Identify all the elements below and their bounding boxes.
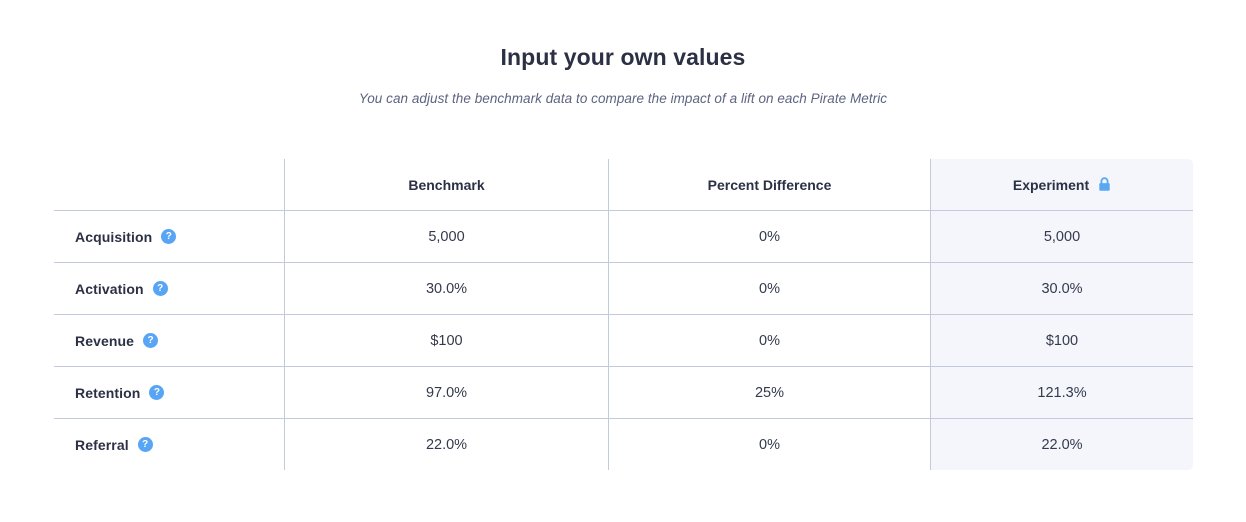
row-label-cell-referral: Referral ? (54, 419, 285, 471)
experiment-cell: 30.0% (931, 263, 1194, 315)
experiment-cell: 5,000 (931, 211, 1194, 263)
table-header-row: Benchmark Percent Difference Experiment (54, 159, 1194, 211)
values-table-container: Benchmark Percent Difference Experiment (53, 158, 1193, 471)
column-header-percent-difference: Percent Difference (609, 159, 931, 211)
help-icon[interactable]: ? (153, 281, 168, 296)
metric-label: Activation (75, 281, 144, 297)
table-row: Retention ? 97.0% 25% 121.3% (54, 367, 1194, 419)
row-label-cell-activation: Activation ? (54, 263, 285, 315)
help-icon[interactable]: ? (143, 333, 158, 348)
percent-difference-cell[interactable]: 25% (609, 367, 931, 419)
experiment-cell: 22.0% (931, 419, 1194, 471)
page-title: Input your own values (0, 44, 1246, 72)
benchmark-cell[interactable]: 97.0% (285, 367, 609, 419)
table-row: Acquisition ? 5,000 0% 5,000 (54, 211, 1194, 263)
table-row: Activation ? 30.0% 0% 30.0% (54, 263, 1194, 315)
column-header-benchmark-label: Benchmark (408, 178, 484, 192)
page-subtitle: You can adjust the benchmark data to com… (0, 72, 1246, 107)
row-label-cell-revenue: Revenue ? (54, 315, 285, 367)
benchmark-cell[interactable]: 22.0% (285, 419, 609, 471)
help-icon[interactable]: ? (149, 385, 164, 400)
benchmark-cell[interactable]: $100 (285, 315, 609, 367)
metric-label: Retention (75, 385, 140, 401)
metric-label: Revenue (75, 333, 134, 349)
percent-difference-cell[interactable]: 0% (609, 315, 931, 367)
column-header-percent-difference-label: Percent Difference (708, 178, 832, 192)
table-row: Referral ? 22.0% 0% 22.0% (54, 419, 1194, 471)
percent-difference-cell[interactable]: 0% (609, 263, 931, 315)
column-header-metric (54, 159, 285, 211)
percent-difference-cell[interactable]: 0% (609, 419, 931, 471)
row-label-cell-acquisition: Acquisition ? (54, 211, 285, 263)
column-header-benchmark: Benchmark (285, 159, 609, 211)
row-label-cell-retention: Retention ? (54, 367, 285, 419)
column-header-experiment: Experiment (931, 159, 1194, 211)
column-header-experiment-label: Experiment (1013, 178, 1089, 192)
experiment-cell: 121.3% (931, 367, 1194, 419)
help-icon[interactable]: ? (138, 437, 153, 452)
metric-label: Acquisition (75, 229, 152, 245)
table-body: Acquisition ? 5,000 0% 5,000 Activation … (54, 211, 1194, 471)
percent-difference-cell[interactable]: 0% (609, 211, 931, 263)
page-root: Input your own values You can adjust the… (0, 0, 1246, 522)
table-head: Benchmark Percent Difference Experiment (54, 159, 1194, 211)
metric-label: Referral (75, 437, 129, 453)
values-table: Benchmark Percent Difference Experiment (53, 158, 1194, 471)
help-icon[interactable]: ? (161, 229, 176, 244)
benchmark-cell[interactable]: 30.0% (285, 263, 609, 315)
benchmark-cell[interactable]: 5,000 (285, 211, 609, 263)
lock-icon (1097, 177, 1111, 192)
experiment-cell: $100 (931, 315, 1194, 367)
table-row: Revenue ? $100 0% $100 (54, 315, 1194, 367)
page-header: Input your own values You can adjust the… (0, 0, 1246, 107)
